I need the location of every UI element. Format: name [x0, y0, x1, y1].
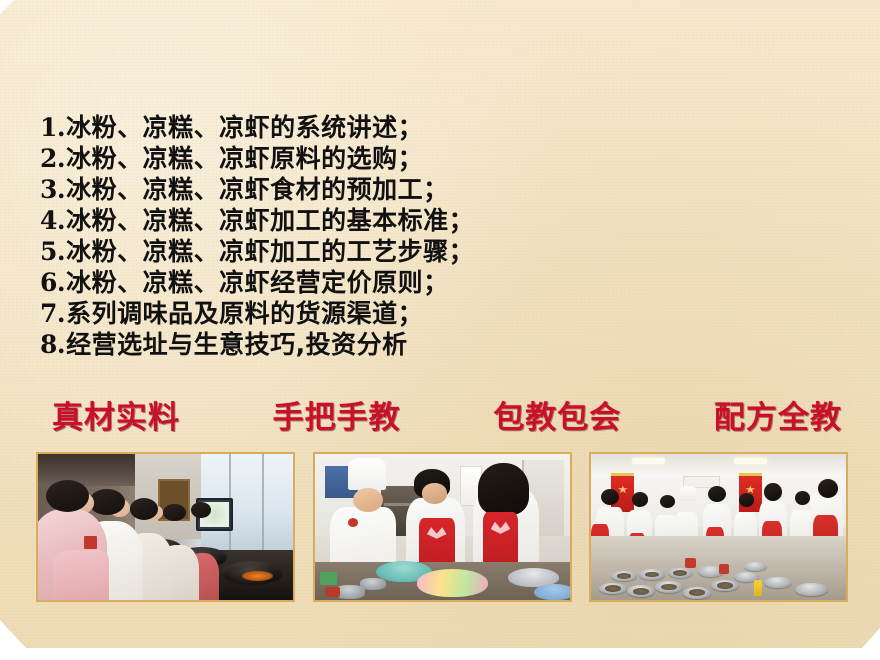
course-item-number: 3.: [40, 175, 65, 204]
sauce-jar: [719, 564, 730, 574]
metal-pan: [711, 580, 739, 592]
metal-pan: [611, 571, 637, 581]
metal-pan: [627, 585, 655, 597]
student-head: [660, 495, 675, 508]
course-list-item: 2. 冰粉、凉糕、凉虾原料的选购；: [40, 139, 600, 170]
course-list-item: 4. 冰粉、凉糕、凉虾加工的基本标准；: [40, 201, 600, 232]
student-hair: [478, 463, 529, 516]
course-item-text: 经营选址与生意技巧,投资分析: [66, 325, 408, 361]
ceiling-light: [632, 458, 665, 464]
red-badge: [84, 536, 97, 549]
green-container: [320, 572, 338, 585]
student-head: [818, 479, 838, 498]
course-item-number: 1.: [40, 113, 65, 142]
blue-bowl: [534, 584, 570, 600]
course-list-item: 3. 冰粉、凉糕、凉虾食材的预加工；: [40, 170, 600, 201]
chef-hat: [680, 486, 695, 501]
course-list-item: 8. 经营选址与生意技巧,投资分析: [40, 325, 600, 356]
oil-bottle: [754, 580, 762, 596]
photo-ceiling: [591, 454, 846, 473]
apron-logo: [427, 527, 447, 539]
course-item-number: 7.: [40, 299, 65, 328]
metal-pan: [683, 587, 711, 599]
metal-pan: [655, 581, 683, 593]
photo-group-training: [591, 454, 846, 600]
photo-frame-chef-demonstration: [313, 452, 572, 602]
student-head: [163, 504, 186, 522]
slogan-item: 配方全教: [714, 392, 842, 437]
metal-pan: [744, 562, 767, 571]
promotional-slide: 1. 冰粉、凉糕、凉虾的系统讲述； 2. 冰粉、凉糕、凉虾原料的选购； 3. 冰…: [0, 0, 880, 660]
course-list-item: 7. 系列调味品及原料的货源渠道；: [40, 294, 600, 325]
slogan-item: 真材实料: [52, 392, 180, 437]
student-head: [764, 483, 782, 501]
slogan-item: 包教包会: [493, 392, 621, 437]
course-list-item: 6. 冰粉、凉糕、凉虾经营定价原则；: [40, 263, 600, 294]
student-head: [632, 492, 649, 507]
apron-logo: [491, 522, 511, 534]
course-list: 1. 冰粉、凉糕、凉虾的系统讲述； 2. 冰粉、凉糕、凉虾原料的选购； 3. 冰…: [40, 108, 600, 356]
metal-pan: [668, 568, 694, 578]
student-head: [130, 498, 158, 520]
student-head: [601, 489, 619, 505]
photo-classroom-woks: [38, 454, 293, 600]
student-head: [89, 489, 125, 515]
photo-frame-classroom-woks: [36, 452, 295, 602]
course-item-number: 5.: [40, 237, 65, 266]
metal-pan: [795, 583, 828, 596]
student-head: [739, 493, 754, 506]
metal-pan: [599, 583, 627, 595]
course-item-number: 6.: [40, 268, 65, 297]
course-list-item: 1. 冰粉、凉糕、凉虾的系统讲述；: [40, 108, 600, 139]
course-list-item: 5. 冰粉、凉糕、凉虾加工的工艺步骤；: [40, 232, 600, 263]
course-item-number: 8.: [40, 330, 65, 359]
student-face: [422, 483, 448, 503]
stove-flame: [242, 571, 273, 581]
sauce-jar: [685, 558, 696, 568]
photo-chef-demonstration: [315, 454, 570, 600]
slogan-item: 手把手教: [273, 392, 401, 437]
pink-apron: [53, 550, 109, 600]
ceiling-light: [734, 458, 767, 464]
course-item-number: 4.: [40, 206, 65, 235]
photo-strip: [36, 452, 848, 602]
photo-frame-group-training: [589, 452, 848, 602]
chef-hat: [348, 458, 386, 490]
metal-pan: [639, 569, 665, 579]
slogan-row: 真材实料 手把手教 包教包会 配方全教: [52, 392, 842, 437]
colorful-bowl: [417, 569, 488, 597]
chef-badge: [348, 518, 358, 527]
course-item-number: 2.: [40, 144, 65, 173]
red-container: [325, 587, 340, 597]
